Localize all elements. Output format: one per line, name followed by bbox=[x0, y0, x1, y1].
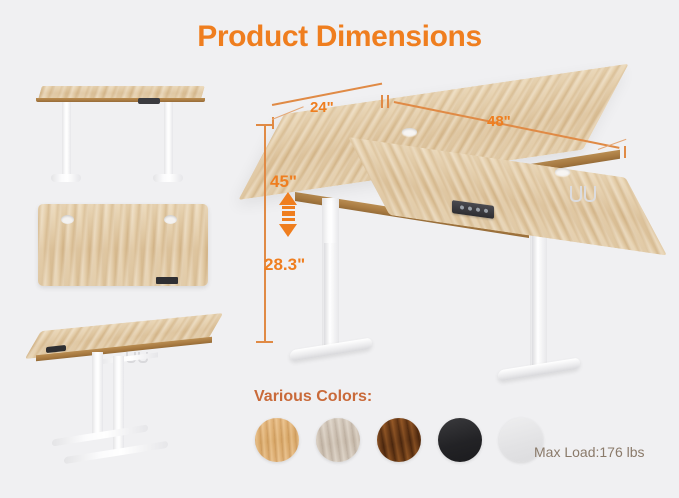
leg-right bbox=[164, 102, 173, 175]
width-dimension-label: 48" bbox=[487, 113, 511, 130]
control-panel-icon bbox=[138, 98, 160, 104]
thumbnail-top-view bbox=[38, 204, 208, 286]
thumbnail-front-view bbox=[34, 86, 209, 191]
max-load-label: Max Load:176 lbs bbox=[534, 444, 645, 460]
height-min-label: 28.3" bbox=[264, 255, 305, 275]
page-title: Product Dimensions bbox=[0, 20, 679, 54]
leg-inner-column bbox=[324, 243, 337, 348]
height-max-label: 45" bbox=[270, 172, 297, 192]
depth-dimension-label: 24" bbox=[310, 99, 334, 116]
grommet-hole-icon bbox=[402, 128, 417, 136]
control-button-icon bbox=[476, 207, 480, 212]
arrow-down-icon bbox=[279, 224, 297, 237]
height-dimension-cap-top bbox=[256, 124, 273, 126]
product-dimensions-infographic: Product Dimensions bbox=[0, 0, 679, 498]
height-dimension-cap-bottom bbox=[256, 341, 273, 343]
control-panel-icon bbox=[156, 277, 178, 284]
desk-leg-left bbox=[322, 198, 339, 348]
foot-right bbox=[153, 174, 183, 182]
leg-left bbox=[92, 352, 103, 436]
grommet-hole-icon bbox=[555, 168, 570, 176]
grommet-hole-icon bbox=[164, 215, 177, 224]
hook-icon bbox=[570, 186, 582, 202]
foot-left bbox=[51, 174, 81, 182]
arrow-stem-icon bbox=[282, 218, 295, 221]
arrow-up-icon bbox=[279, 192, 297, 205]
thumbnail-angled-view bbox=[36, 316, 216, 466]
color-swatch-row bbox=[255, 418, 543, 462]
arrow-stem-icon bbox=[282, 206, 295, 209]
main-desk-illustration bbox=[284, 110, 634, 395]
dimension-tick-icon bbox=[381, 95, 383, 108]
dimension-tick-icon bbox=[387, 95, 389, 108]
color-swatch-light-oak[interactable] bbox=[255, 418, 299, 462]
control-button-icon bbox=[460, 205, 464, 210]
various-colors-title: Various Colors: bbox=[254, 388, 372, 406]
color-swatch-grey-wash-oak[interactable] bbox=[316, 418, 360, 462]
control-button-icon bbox=[468, 206, 472, 211]
grommet-hole-icon bbox=[61, 215, 74, 224]
leg-right bbox=[113, 356, 124, 454]
arrow-stem-icon bbox=[282, 213, 295, 216]
color-swatch-rustic-brown[interactable] bbox=[377, 418, 421, 462]
hook-icon bbox=[584, 186, 596, 202]
leg-inner-column bbox=[532, 231, 545, 368]
color-swatch-black[interactable] bbox=[438, 418, 482, 462]
dimension-tick-icon bbox=[624, 146, 626, 158]
height-dimension-line bbox=[264, 124, 266, 342]
control-button-icon bbox=[484, 209, 488, 214]
leg-left bbox=[62, 102, 71, 175]
